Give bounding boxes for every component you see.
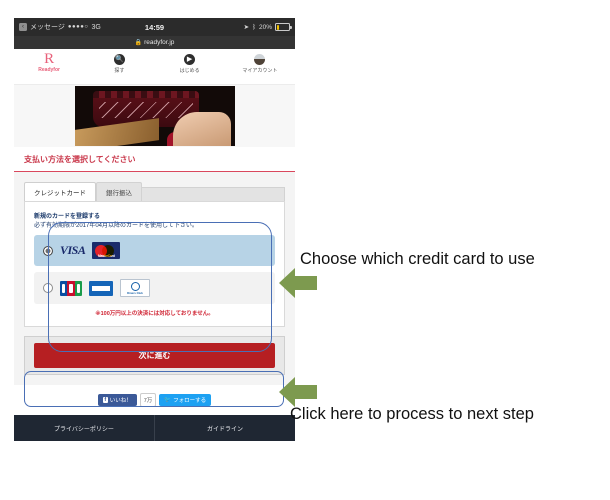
next-step-button[interactable]: 次に進む (34, 343, 275, 368)
footer-link-guideline[interactable]: ガイドライン (155, 415, 295, 441)
twitter-follow-label: フォローする (173, 396, 206, 404)
hero-photo-area (14, 85, 295, 147)
jcb-logo-icon (60, 281, 82, 296)
social-share-bar: f いいね！ 7万 🐦 フォローする (14, 385, 295, 415)
annotation-text-choose-card: Choose which credit card to use (300, 250, 535, 269)
tab-bank-transfer[interactable]: 銀行振込 (96, 182, 142, 201)
nav-label-start: はじめる (155, 67, 225, 74)
amex-logo-icon (89, 281, 113, 296)
site-footer: プライバシーポリシー ガイドライン (14, 415, 295, 441)
browser-url-bar[interactable]: 🔒 readyfor.jp (14, 36, 295, 49)
next-button-wrap: 次に進む (24, 336, 285, 375)
diners-club-logo-icon: Diners Club (120, 279, 150, 297)
search-icon: 🔍 (84, 52, 154, 66)
visa-logo-icon: VISA (60, 243, 85, 258)
project-photo (75, 86, 235, 146)
twitter-bird-icon: 🐦 (164, 397, 171, 403)
page-title: 支払い方法を選択してください (14, 147, 295, 172)
card-option-visa-master[interactable]: VISA MasterCard (34, 235, 275, 266)
status-bar: ‹ メッセージ ●●●●○ 3G 14:59 ➤ ᛒ 20% (14, 18, 295, 36)
screenshot-root: ‹ メッセージ ●●●●○ 3G 14:59 ➤ ᛒ 20% 🔒 readyfo… (0, 0, 610, 500)
nav-label-account: マイアカウント (225, 67, 295, 74)
left-arrow-icon (277, 263, 319, 303)
like-count-badge: 7万 (140, 393, 157, 407)
lock-icon: 🔒 (135, 39, 142, 46)
nav-item-search[interactable]: 🔍 探す (84, 52, 154, 74)
url-text: readyfor.jp (144, 39, 174, 46)
nav-label-search: 探す (84, 67, 154, 74)
twitter-follow-button[interactable]: 🐦 フォローする (159, 394, 211, 406)
radio-jcb-amex-diners[interactable] (43, 283, 53, 293)
play-circle-icon: ▶ (155, 52, 225, 66)
nav-item-readyfor[interactable]: R Readyfor (14, 52, 84, 73)
tab-filler (142, 187, 285, 201)
new-card-heading: 新規のカードを登録する (34, 211, 275, 220)
annotation-text-next-step: Click here to process to next step (290, 405, 534, 424)
facebook-like-label: いいね！ (110, 396, 132, 404)
battery-icon (275, 23, 290, 31)
nav-item-start[interactable]: ▶ はじめる (155, 52, 225, 74)
card-option-jcb-amex-diners[interactable]: Diners Club (34, 272, 275, 304)
status-clock: 14:59 (14, 23, 295, 32)
readyfor-r-logo: R (14, 52, 84, 66)
tab-credit-card[interactable]: クレジットカード (24, 182, 96, 201)
mastercard-logo-icon: MasterCard (92, 242, 120, 259)
site-nav: R Readyfor 🔍 探す ▶ はじめる マイアカウント (14, 49, 295, 85)
footer-link-privacy[interactable]: プライバシーポリシー (14, 415, 154, 441)
account-avatar-icon (225, 52, 295, 66)
nav-item-account[interactable]: マイアカウント (225, 52, 295, 74)
payment-body: クレジットカード 銀行振込 新規のカードを登録する 必ず有効期限が2017年04… (14, 172, 295, 385)
radio-visa-master[interactable] (43, 246, 53, 256)
payment-limit-warning: ※100万円以上の決済には対応しておりません。 (34, 309, 275, 317)
credit-card-panel: 新規のカードを登録する 必ず有効期限が2017年04月以降のカードを使用して下さ… (24, 201, 285, 327)
expiry-note: 必ず有効期限が2017年04月以降のカードを使用して下さい。 (34, 220, 275, 229)
phone-screenshot: ‹ メッセージ ●●●●○ 3G 14:59 ➤ ᛒ 20% 🔒 readyfo… (14, 18, 295, 484)
facebook-like-button[interactable]: f いいね！ (98, 394, 137, 406)
nav-label-readyfor: Readyfor (14, 67, 84, 73)
payment-method-tabs: クレジットカード 銀行振込 (24, 182, 285, 201)
facebook-f-icon: f (103, 397, 108, 403)
